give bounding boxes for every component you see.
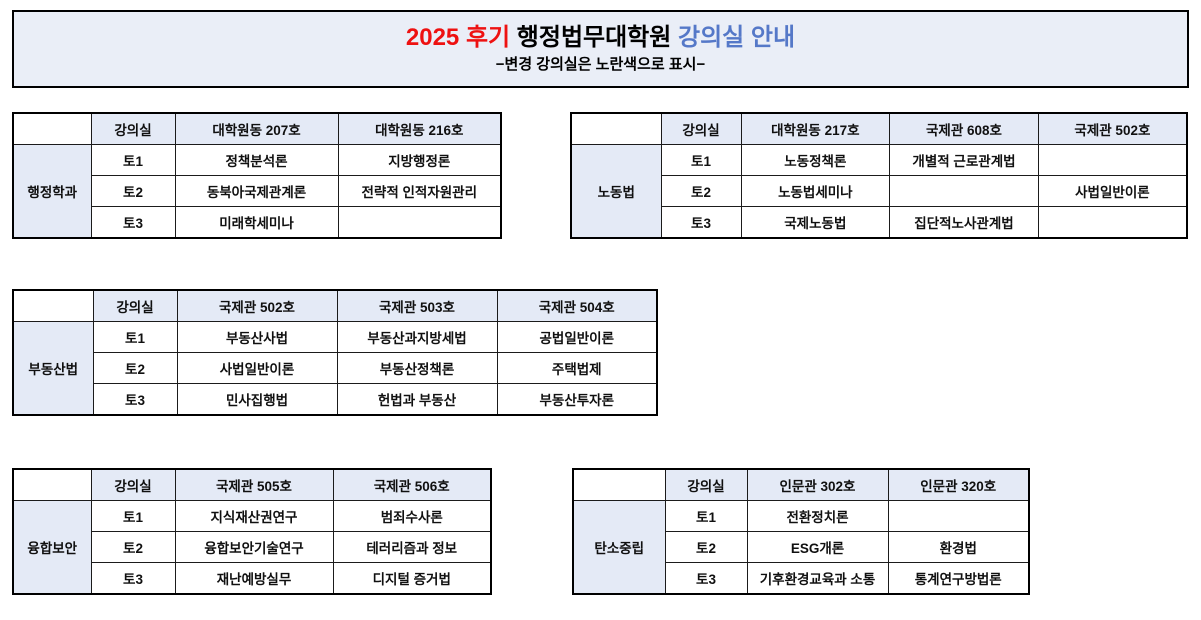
table-row: 노동법 토1 노동정책론 개별적 근로관계법 — [571, 145, 1187, 176]
room-header-cell: 국제관 506호 — [333, 469, 491, 501]
room-header-cell: 인문관 302호 — [747, 469, 888, 501]
course-cell: 융합보안기술연구 — [175, 532, 333, 563]
page-subtitle: −변경 강의실은 노란색으로 표시− — [496, 57, 705, 74]
course-cell: 환경법 — [888, 532, 1029, 563]
table-header-row: 강의실 인문관 302호 인문관 320호 — [573, 469, 1029, 501]
course-cell: 국제노동법 — [741, 207, 890, 239]
slot-label: 토2 — [91, 532, 175, 563]
title-banner: 2025 후기 행정법무대학원 강의실 안내 −변경 강의실은 노란색으로 표시… — [12, 10, 1189, 88]
department-label: 노동법 — [571, 145, 661, 239]
room-header-cell: 대학원동 216호 — [338, 113, 501, 145]
department-label: 부동산법 — [13, 322, 93, 416]
course-cell: 헌법과 부동산 — [337, 384, 497, 416]
course-cell: 부동산정책론 — [337, 353, 497, 384]
room-header-label: 강의실 — [91, 113, 175, 145]
corner-cell — [571, 113, 661, 145]
course-cell: 미래학세미나 — [175, 207, 338, 239]
department-label: 행정학과 — [13, 145, 91, 239]
course-cell: 부동산투자론 — [497, 384, 657, 416]
table-row: 토2 사법일반이론 부동산정책론 주택법제 — [13, 353, 657, 384]
room-header-cell: 대학원동 217호 — [741, 113, 890, 145]
course-cell: ESG개론 — [747, 532, 888, 563]
empty-cell — [890, 176, 1039, 207]
empty-cell — [338, 207, 501, 239]
table-row: 토2 노동법세미나 사법일반이론 — [571, 176, 1187, 207]
course-cell: 노동법세미나 — [741, 176, 890, 207]
room-header-label: 강의실 — [93, 290, 177, 322]
slot-label: 토3 — [91, 207, 175, 239]
course-cell: 정책분석론 — [175, 145, 338, 176]
table-row: 토3 민사집행법 헌법과 부동산 부동산투자론 — [13, 384, 657, 416]
schedule-table-tansojungnip: 강의실 인문관 302호 인문관 320호 탄소중립 토1 전환정치론 토2 E… — [572, 468, 1030, 595]
table-row: 부동산법 토1 부동산사법 부동산과지방세법 공법일반이론 — [13, 322, 657, 353]
course-cell: 범죄수사론 — [333, 501, 491, 532]
course-cell: 사법일반이론 — [1038, 176, 1187, 207]
department-label: 탄소중립 — [573, 501, 665, 595]
room-header-label: 강의실 — [665, 469, 747, 501]
schedule-table-nodongbeop: 강의실 대학원동 217호 국제관 608호 국제관 502호 노동법 토1 노… — [570, 112, 1188, 239]
empty-cell — [1038, 207, 1187, 239]
room-header-cell: 국제관 505호 — [175, 469, 333, 501]
slot-label: 토3 — [91, 563, 175, 595]
course-cell: 지식재산권연구 — [175, 501, 333, 532]
table-header-row: 강의실 국제관 505호 국제관 506호 — [13, 469, 491, 501]
corner-cell — [573, 469, 665, 501]
table-row: 융합보안 토1 지식재산권연구 범죄수사론 — [13, 501, 491, 532]
course-cell: 기후환경교육과 소통 — [747, 563, 888, 595]
room-header-cell: 국제관 608호 — [890, 113, 1039, 145]
slot-label: 토1 — [91, 501, 175, 532]
slot-label: 토1 — [661, 145, 741, 176]
course-cell: 사법일반이론 — [177, 353, 337, 384]
corner-cell — [13, 290, 93, 322]
course-cell: 재난예방실무 — [175, 563, 333, 595]
room-header-cell: 국제관 503호 — [337, 290, 497, 322]
slot-label: 토2 — [661, 176, 741, 207]
schedule-table-yunghapboan: 강의실 국제관 505호 국제관 506호 융합보안 토1 지식재산권연구 범죄… — [12, 468, 492, 595]
slot-label: 토3 — [93, 384, 177, 416]
slot-label: 토2 — [665, 532, 747, 563]
slot-label: 토1 — [93, 322, 177, 353]
slot-label: 토3 — [661, 207, 741, 239]
course-cell: 부동산사법 — [177, 322, 337, 353]
course-cell: 공법일반이론 — [497, 322, 657, 353]
course-cell: 개별적 근로관계법 — [890, 145, 1039, 176]
table-row: 행정학과 토1 정책분석론 지방행정론 — [13, 145, 501, 176]
course-cell: 디지털 증거법 — [333, 563, 491, 595]
course-cell: 테러리즘과 정보 — [333, 532, 491, 563]
room-header-cell: 인문관 320호 — [888, 469, 1029, 501]
schedule-table-budongsanbeop: 강의실 국제관 502호 국제관 503호 국제관 504호 부동산법 토1 부… — [12, 289, 658, 416]
course-cell: 주택법제 — [497, 353, 657, 384]
table-header-row: 강의실 대학원동 217호 국제관 608호 국제관 502호 — [571, 113, 1187, 145]
room-header-cell: 국제관 504호 — [497, 290, 657, 322]
course-cell: 전략적 인적자원관리 — [338, 176, 501, 207]
course-cell: 통계연구방법론 — [888, 563, 1029, 595]
corner-cell — [13, 469, 91, 501]
slot-label: 토1 — [91, 145, 175, 176]
room-header-cell: 국제관 502호 — [177, 290, 337, 322]
room-header-cell: 대학원동 207호 — [175, 113, 338, 145]
room-header-cell: 국제관 502호 — [1038, 113, 1187, 145]
title-org: 행정법무대학원 — [517, 24, 672, 51]
empty-cell — [1038, 145, 1187, 176]
department-label: 융합보안 — [13, 501, 91, 595]
empty-cell — [888, 501, 1029, 532]
room-header-label: 강의실 — [661, 113, 741, 145]
table-header-row: 강의실 국제관 502호 국제관 503호 국제관 504호 — [13, 290, 657, 322]
course-cell: 집단적노사관계법 — [890, 207, 1039, 239]
course-cell: 전환정치론 — [747, 501, 888, 532]
course-cell: 부동산과지방세법 — [337, 322, 497, 353]
corner-cell — [13, 113, 91, 145]
page-title: 2025 후기 행정법무대학원 강의실 안내 — [406, 25, 795, 51]
table-row: 토3 국제노동법 집단적노사관계법 — [571, 207, 1187, 239]
slot-label: 토2 — [93, 353, 177, 384]
schedule-table-haengjeonghakgwa: 강의실 대학원동 207호 대학원동 216호 행정학과 토1 정책분석론 지방… — [12, 112, 502, 239]
course-cell: 민사집행법 — [177, 384, 337, 416]
course-cell: 지방행정론 — [338, 145, 501, 176]
room-header-label: 강의실 — [91, 469, 175, 501]
slot-label: 토1 — [665, 501, 747, 532]
course-cell: 노동정책론 — [741, 145, 890, 176]
table-row: 탄소중립 토1 전환정치론 — [573, 501, 1029, 532]
slot-label: 토2 — [91, 176, 175, 207]
title-suffix: 강의실 안내 — [678, 24, 795, 51]
slot-label: 토3 — [665, 563, 747, 595]
title-year-term: 2025 후기 — [406, 24, 510, 51]
table-header-row: 강의실 대학원동 207호 대학원동 216호 — [13, 113, 501, 145]
course-cell: 동북아국제관계론 — [175, 176, 338, 207]
